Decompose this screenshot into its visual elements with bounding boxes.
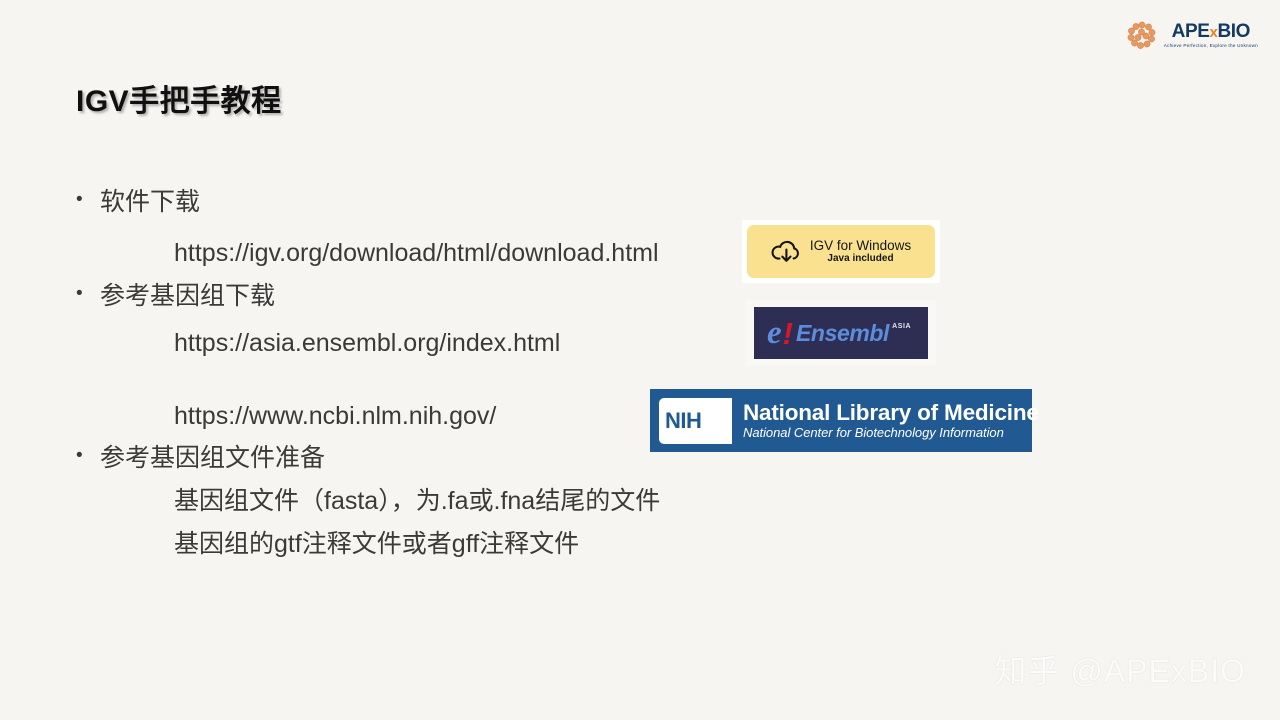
igv-download-subtitle: Java included (827, 253, 893, 264)
bullet-icon: • (76, 190, 100, 210)
nlm-title: National Library of Medicine (743, 401, 1039, 425)
ensembl-logo-exclamation: ! (783, 318, 793, 349)
nih-badge-text: NIH (665, 410, 701, 432)
link-ensembl[interactable]: https://asia.ensembl.org/index.html (76, 331, 776, 356)
igv-download-button-labels: IGV for Windows Java included (810, 238, 911, 264)
bullet-icon: • (76, 446, 100, 466)
ensembl-logo-e: e (767, 317, 782, 350)
bullet-label-software-download: 软件下载 (100, 190, 200, 215)
list-item: • 软件下载 (76, 190, 776, 215)
nih-nlm-banner[interactable]: NIH National Library of Medicine Nationa… (650, 389, 1032, 452)
cloud-download-icon (771, 239, 801, 265)
nlm-text-block: National Library of Medicine National Ce… (743, 401, 1039, 439)
ncbi-subtitle: National Center for Biotechnology Inform… (743, 426, 1039, 440)
page-title: IGV手把手教程 (76, 76, 282, 120)
link-igv-download[interactable]: https://igv.org/download/html/download.h… (76, 241, 776, 266)
chevron-right-icon (709, 398, 733, 444)
ensembl-logo[interactable]: e ! Ensembl ASIA (754, 307, 928, 359)
igv-download-button-image: IGV for Windows Java included (742, 220, 940, 283)
bullet-icon: • (76, 284, 100, 304)
note-annotation-file: 基因组的gtf注释文件或者gff注释文件 (76, 532, 776, 557)
apexbio-wordmark-ape: APE (1172, 21, 1210, 42)
apexbio-tagline: Achieve Perfection, Explore the Unknown (1164, 43, 1258, 48)
igv-download-title: IGV for Windows (810, 238, 911, 253)
note-fasta-file: 基因组文件（fasta），为.fa或.fna结尾的文件 (76, 489, 776, 514)
zhihu-watermark: 知乎 @APExBIO (994, 646, 1246, 692)
ensembl-logo-image: e ! Ensembl ASIA (746, 300, 936, 366)
bullet-label-genome-download: 参考基因组下载 (100, 284, 275, 309)
nih-badge-icon: NIH (659, 398, 732, 444)
apexbio-wordmark: APExBIO (1172, 22, 1250, 41)
apexbio-wordmark-bio: BIO (1217, 21, 1250, 42)
apexbio-logo-text: APExBIO Achieve Perfection, Explore the … (1164, 22, 1258, 49)
igv-download-button[interactable]: IGV for Windows Java included (747, 225, 935, 278)
list-item: • 参考基因组下载 (76, 284, 776, 309)
slide-body: • 软件下载 https://igv.org/download/html/dow… (76, 190, 776, 557)
apexbio-logo-mark (1127, 20, 1157, 50)
bullet-label-file-preparation: 参考基因组文件准备 (100, 446, 325, 471)
ensembl-logo-region: ASIA (892, 323, 911, 330)
apexbio-logo: APExBIO Achieve Perfection, Explore the … (1127, 20, 1258, 50)
ensembl-logo-wordmark: Ensembl (796, 322, 889, 345)
